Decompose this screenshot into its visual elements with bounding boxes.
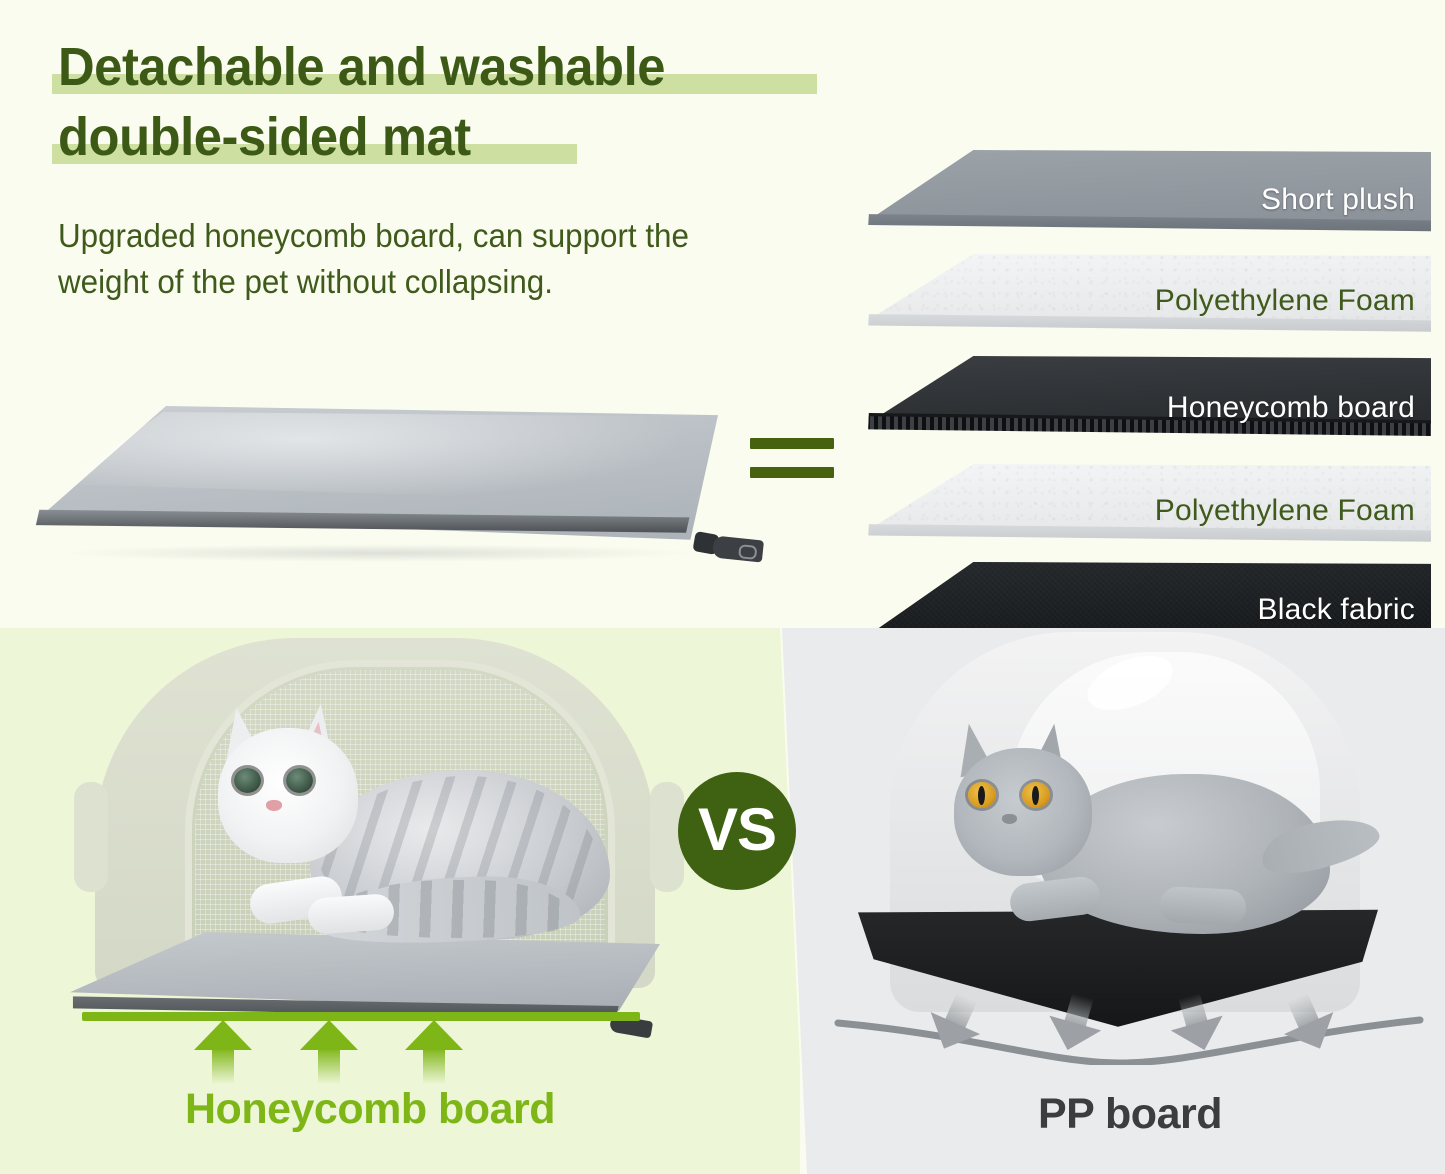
arrow-head	[300, 1020, 358, 1050]
equals-bar-top	[750, 438, 834, 449]
product-infographic: Detachable and washable double-sided mat…	[0, 0, 1445, 1174]
arrow-up-icon-3	[405, 1020, 463, 1082]
support-line	[82, 1012, 640, 1021]
arrow-shaft	[212, 1048, 234, 1084]
caption-honeycomb-board: Honeycomb board	[0, 1085, 740, 1134]
cat-paw-front-right	[1159, 886, 1247, 926]
equals-icon	[750, 438, 834, 478]
photo-pp-mat	[830, 632, 1430, 1052]
headline-text-2: double-sided mat	[58, 106, 471, 168]
sagging-curve-icon	[820, 995, 1440, 1065]
equals-bar-bottom	[750, 467, 834, 478]
arrow-shaft	[423, 1048, 445, 1084]
photo-honeycomb-mat	[40, 632, 740, 1052]
arrow-up-icon-2	[300, 1020, 358, 1082]
gray-cat	[930, 702, 1350, 952]
subtitle-text: Upgraded honeycomb board, can support th…	[58, 213, 780, 305]
honeycomb-support-diagram	[0, 1008, 740, 1088]
carrier-strap-left	[74, 782, 108, 892]
layer-label-foam-top: Polyethylene Foam	[1155, 284, 1415, 318]
layer-stack-diagram: Short plush Polyethylene Foam Honeycomb …	[866, 150, 1431, 580]
cat-pupil-left	[978, 786, 985, 805]
page-title: Detachable and washable double-sided mat	[58, 36, 848, 176]
arrow-head	[405, 1020, 463, 1050]
layer-label-honeycomb-board: Honeycomb board	[1167, 391, 1415, 425]
pp-sag-diagram	[820, 995, 1440, 1075]
cat-nose	[266, 800, 282, 811]
layer-polyethylene-foam-bottom: Polyethylene Foam	[866, 464, 1431, 558]
layer-label-short-plush: Short plush	[1261, 183, 1415, 217]
product-mat-photo	[18, 398, 758, 598]
cat-paw-front-left	[1008, 875, 1102, 924]
cat-eye-left	[234, 768, 261, 793]
arrow-shaft	[318, 1048, 340, 1084]
arrow-up-icon-1	[194, 1020, 252, 1082]
top-section: Detachable and washable double-sided mat…	[0, 0, 1445, 630]
layer-label-black-fabric: Black fabric	[1258, 593, 1415, 627]
layer-polyethylene-foam-top: Polyethylene Foam	[866, 254, 1431, 348]
zipper-pull-icon	[712, 535, 764, 562]
caption-pp-board: PP board	[820, 1090, 1440, 1139]
cat-pupil-right	[1032, 786, 1039, 805]
mat-shadow	[58, 544, 698, 562]
cat-paw-front-right	[307, 893, 395, 935]
cat-nose	[1002, 814, 1017, 824]
cat-eye-right	[286, 768, 313, 793]
layer-honeycomb-board: Honeycomb board	[866, 356, 1431, 460]
headline-line-2: double-sided mat	[58, 106, 497, 168]
vs-badge: VS	[678, 772, 796, 890]
vs-label: VS	[698, 800, 776, 860]
headline-text-1: Detachable and washable	[58, 36, 665, 98]
layer-label-foam-bottom: Polyethylene Foam	[1155, 494, 1415, 528]
white-cat	[190, 690, 610, 960]
cat-head	[218, 728, 358, 863]
cat-head	[954, 748, 1092, 876]
layer-short-plush: Short plush	[866, 150, 1431, 250]
headline-line-1: Detachable and washable	[58, 36, 704, 98]
arrow-head	[194, 1020, 252, 1050]
